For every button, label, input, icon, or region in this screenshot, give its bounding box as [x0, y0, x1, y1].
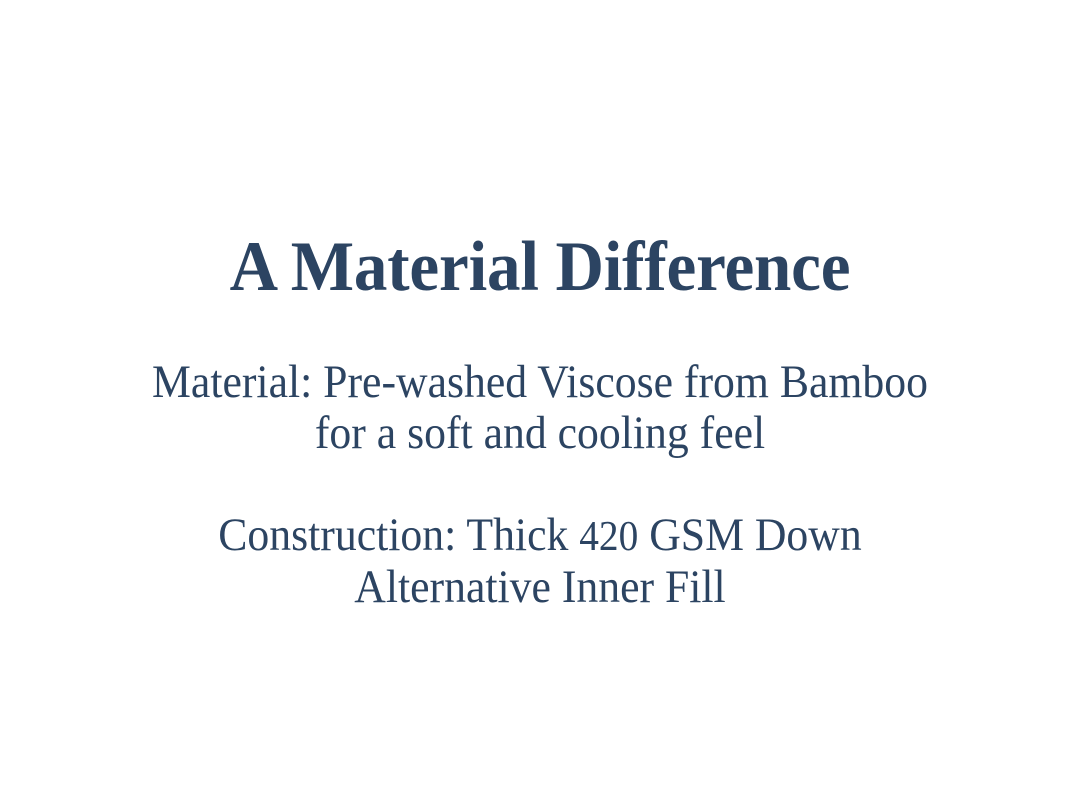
- construction-line-2: Alternative Inner Fill: [60, 562, 1020, 613]
- paragraph-spacer: [0, 459, 1080, 510]
- numeric-value: 420: [579, 513, 638, 560]
- title-spacer: [0, 298, 1080, 357]
- material-line-1: Material: Pre-washed Viscose from Bamboo: [60, 357, 1020, 408]
- product-feature-slide: A Material Difference Material: Pre-wash…: [0, 0, 1080, 800]
- construction-line-1: Construction: Thick 420 GSM Down: [60, 510, 1020, 562]
- construction-paragraph: Construction: Thick 420 GSM Down Alterna…: [38, 510, 1042, 613]
- material-line-2: for a soft and cooling feel: [60, 408, 1020, 459]
- material-paragraph: Material: Pre-washed Viscose from Bamboo…: [38, 357, 1042, 459]
- content-stack: A Material Difference Material: Pre-wash…: [0, 0, 1080, 613]
- page-title: A Material Difference: [30, 236, 1051, 298]
